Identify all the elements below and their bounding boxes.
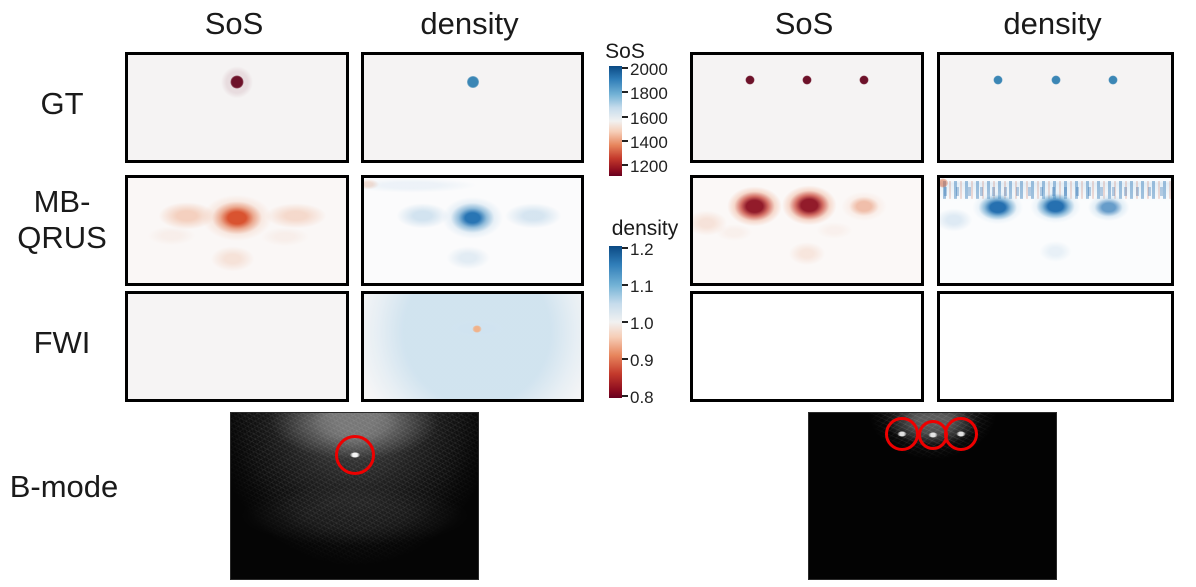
feature-blob [993, 76, 1002, 85]
colorbar-tick-label: 1600 [630, 110, 668, 127]
feature-blob [1109, 76, 1118, 85]
heatmap-ringing-overlay [940, 178, 1171, 283]
feature-blob [860, 76, 869, 85]
colorbar-tickmark [622, 67, 628, 69]
colorbar-tickmark [622, 164, 628, 166]
row-label-gt: GT [6, 86, 118, 122]
panel-right-gt-sos[interactable] [690, 52, 924, 163]
colorbar-gradient [609, 66, 622, 176]
panel-left-gt-sos[interactable] [125, 52, 349, 163]
feature-blob [231, 76, 244, 89]
column-label-left-sos: SoS [125, 8, 343, 39]
colorbar-tick-label: 0.8 [630, 389, 654, 406]
colorbar-sos[interactable] [609, 66, 622, 176]
colorbar-tickmark [622, 116, 628, 118]
column-label-left-density: density [361, 8, 578, 39]
feature-blob [1051, 76, 1060, 85]
panel-left-fwi-density[interactable] [361, 291, 584, 402]
colorbar-tick-label: 1.1 [630, 278, 654, 295]
colorbar-title-density: density [597, 218, 693, 239]
heatmap-canvas [693, 55, 921, 160]
colorbar-tick-label: 0.9 [630, 352, 654, 369]
colorbar-tickmark [622, 140, 628, 142]
feature-blob [938, 179, 948, 188]
heatmap-canvas [128, 294, 346, 399]
colorbar-tick-label: 1.2 [630, 241, 654, 258]
column-label-right-density: density [937, 8, 1168, 39]
row-label-gt-line1: GT [6, 86, 118, 122]
row-label-fwi-line1: FWI [6, 325, 118, 361]
colorbar-title-sos: SoS [597, 41, 653, 62]
heatmap-canvas [364, 55, 581, 160]
row-label-bmode: B-mode [0, 469, 128, 505]
colorbar-tickmark [622, 358, 628, 360]
panel-left-fwi-sos[interactable] [125, 291, 349, 402]
panel-left-mbqrus-density[interactable] [361, 175, 584, 286]
panel-right-mbqrus-sos[interactable] [690, 175, 924, 286]
colorbar-tick-label: 1.0 [630, 315, 654, 332]
row-label-fwi: FWI [6, 325, 118, 361]
row-label-mbqrus-line1: MB- [6, 184, 118, 220]
heatmap-canvas [693, 294, 921, 399]
colorbar-tickmark [622, 91, 628, 93]
colorbar-tickmark [622, 395, 628, 397]
feature-blob [467, 76, 479, 88]
panel-left-mbqrus-sos[interactable] [125, 175, 349, 286]
panel-right-fwi-density[interactable] [937, 291, 1174, 402]
panel-left-gt-density[interactable] [361, 52, 584, 163]
colorbar-tickmark [622, 247, 628, 249]
bmode-image-right[interactable] [808, 412, 1057, 580]
heatmap-canvas [364, 294, 581, 399]
colorbar-tick-label: 1800 [630, 85, 668, 102]
feature-blob [803, 76, 812, 85]
heatmap-canvas [128, 178, 346, 283]
column-label-right-sos: SoS [690, 8, 918, 39]
colorbar-tick-label: 2000 [630, 61, 668, 78]
bmode-marker-circle [885, 417, 919, 451]
feature-blob [472, 325, 481, 332]
heatmap-canvas [940, 55, 1171, 160]
colorbar-tickmark [622, 321, 628, 323]
colorbar-tick-label: 1200 [630, 158, 668, 175]
panel-right-mbqrus-density[interactable] [937, 175, 1174, 286]
row-label-mbqrus: MB- QRUS [6, 184, 118, 256]
colorbar-tickmark [622, 284, 628, 286]
heatmap-canvas [693, 178, 921, 283]
panel-right-gt-density[interactable] [937, 52, 1174, 163]
colorbar-tick-label: 1400 [630, 134, 668, 151]
panel-right-fwi-sos[interactable] [690, 291, 924, 402]
row-label-bmode-line1: B-mode [0, 469, 128, 505]
bmode-marker-circle [335, 435, 375, 475]
row-label-mbqrus-line2: QRUS [6, 220, 118, 256]
heatmap-canvas [128, 55, 346, 160]
heatmap-canvas [940, 294, 1171, 399]
heatmap-canvas [364, 178, 581, 283]
bmode-marker-circle [944, 417, 978, 451]
figure-root: GT MB- QRUS FWI B-mode SoS density SoS d… [0, 0, 1196, 587]
bmode-image-left[interactable] [230, 412, 479, 580]
feature-blob [746, 76, 755, 85]
colorbar-gradient [609, 246, 622, 398]
colorbar-density[interactable] [609, 246, 622, 398]
